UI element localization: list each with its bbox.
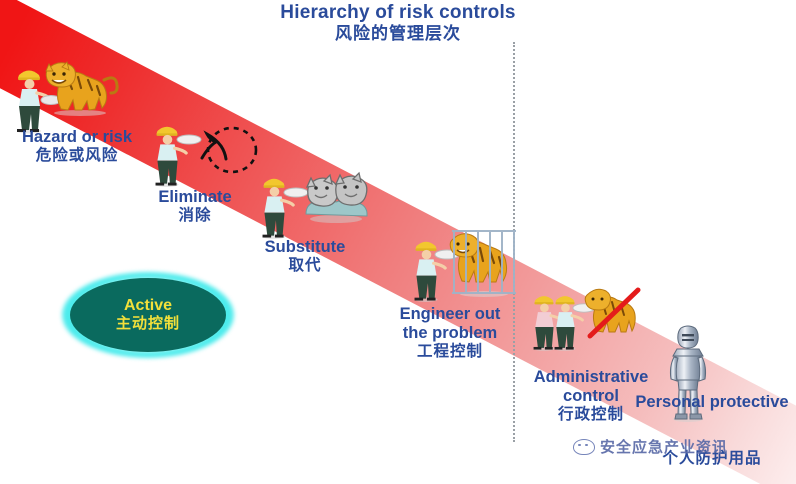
caged-tiger-icon	[448, 222, 520, 300]
label-admin-en-line1: Administrative	[518, 368, 664, 387]
label-substitute-en: Substitute	[238, 238, 372, 257]
label-substitute: Substitute 取代	[238, 238, 372, 275]
label-engineer-zh: 工程控制	[386, 343, 514, 361]
worker-figure-admin-b-icon	[545, 288, 585, 352]
label-hazard-zh: 危险或风险	[4, 147, 150, 165]
label-hazard-or-risk: Hazard or risk 危险或风险	[4, 128, 150, 165]
kittens-icon	[300, 162, 372, 224]
title-en: Hierarchy of risk controls	[0, 2, 796, 24]
label-engineer-en-line1: Engineer out	[386, 305, 514, 324]
smiley-face-logo-icon	[573, 439, 595, 455]
risk-control-hierarchy-diagram: Hierarchy of risk controls 风险的管理层次	[0, 0, 796, 484]
label-hazard-en: Hazard or risk	[4, 128, 150, 147]
label-eliminate: Eliminate 消除	[133, 188, 257, 225]
clipboard-icon	[176, 133, 202, 146]
active-badge-ellipse: Active 主动控制	[70, 278, 226, 352]
page-title: Hierarchy of risk controls 风险的管理层次	[0, 2, 796, 44]
dashed-circle-icon	[200, 122, 260, 178]
watermark: 安全应急产业资讯	[573, 436, 728, 457]
active-badge-zh: 主动控制	[116, 315, 180, 333]
prohibited-tiger-icon	[584, 282, 646, 344]
worker-figure-eliminate-icon	[145, 118, 189, 188]
worker-figure-substitute-icon	[252, 170, 296, 240]
worker-figure-engineer-icon	[404, 233, 448, 303]
active-control-badge: Active 主动控制	[62, 272, 234, 358]
label-engineer-out-the-problem: Engineer out the problem 工程控制	[386, 305, 514, 361]
active-badge-en: Active	[124, 297, 172, 315]
watermark-text: 安全应急产业资讯	[600, 436, 728, 457]
label-substitute-zh: 取代	[238, 257, 372, 275]
tiger-icon	[40, 55, 120, 117]
label-eliminate-en: Eliminate	[133, 188, 257, 207]
label-personal-protective: Personal protective	[627, 393, 796, 412]
label-eliminate-zh: 消除	[133, 207, 257, 225]
title-zh: 风险的管理层次	[0, 24, 796, 44]
label-ppe-en: Personal protective	[627, 393, 796, 412]
label-engineer-en-line2: the problem	[386, 324, 514, 343]
